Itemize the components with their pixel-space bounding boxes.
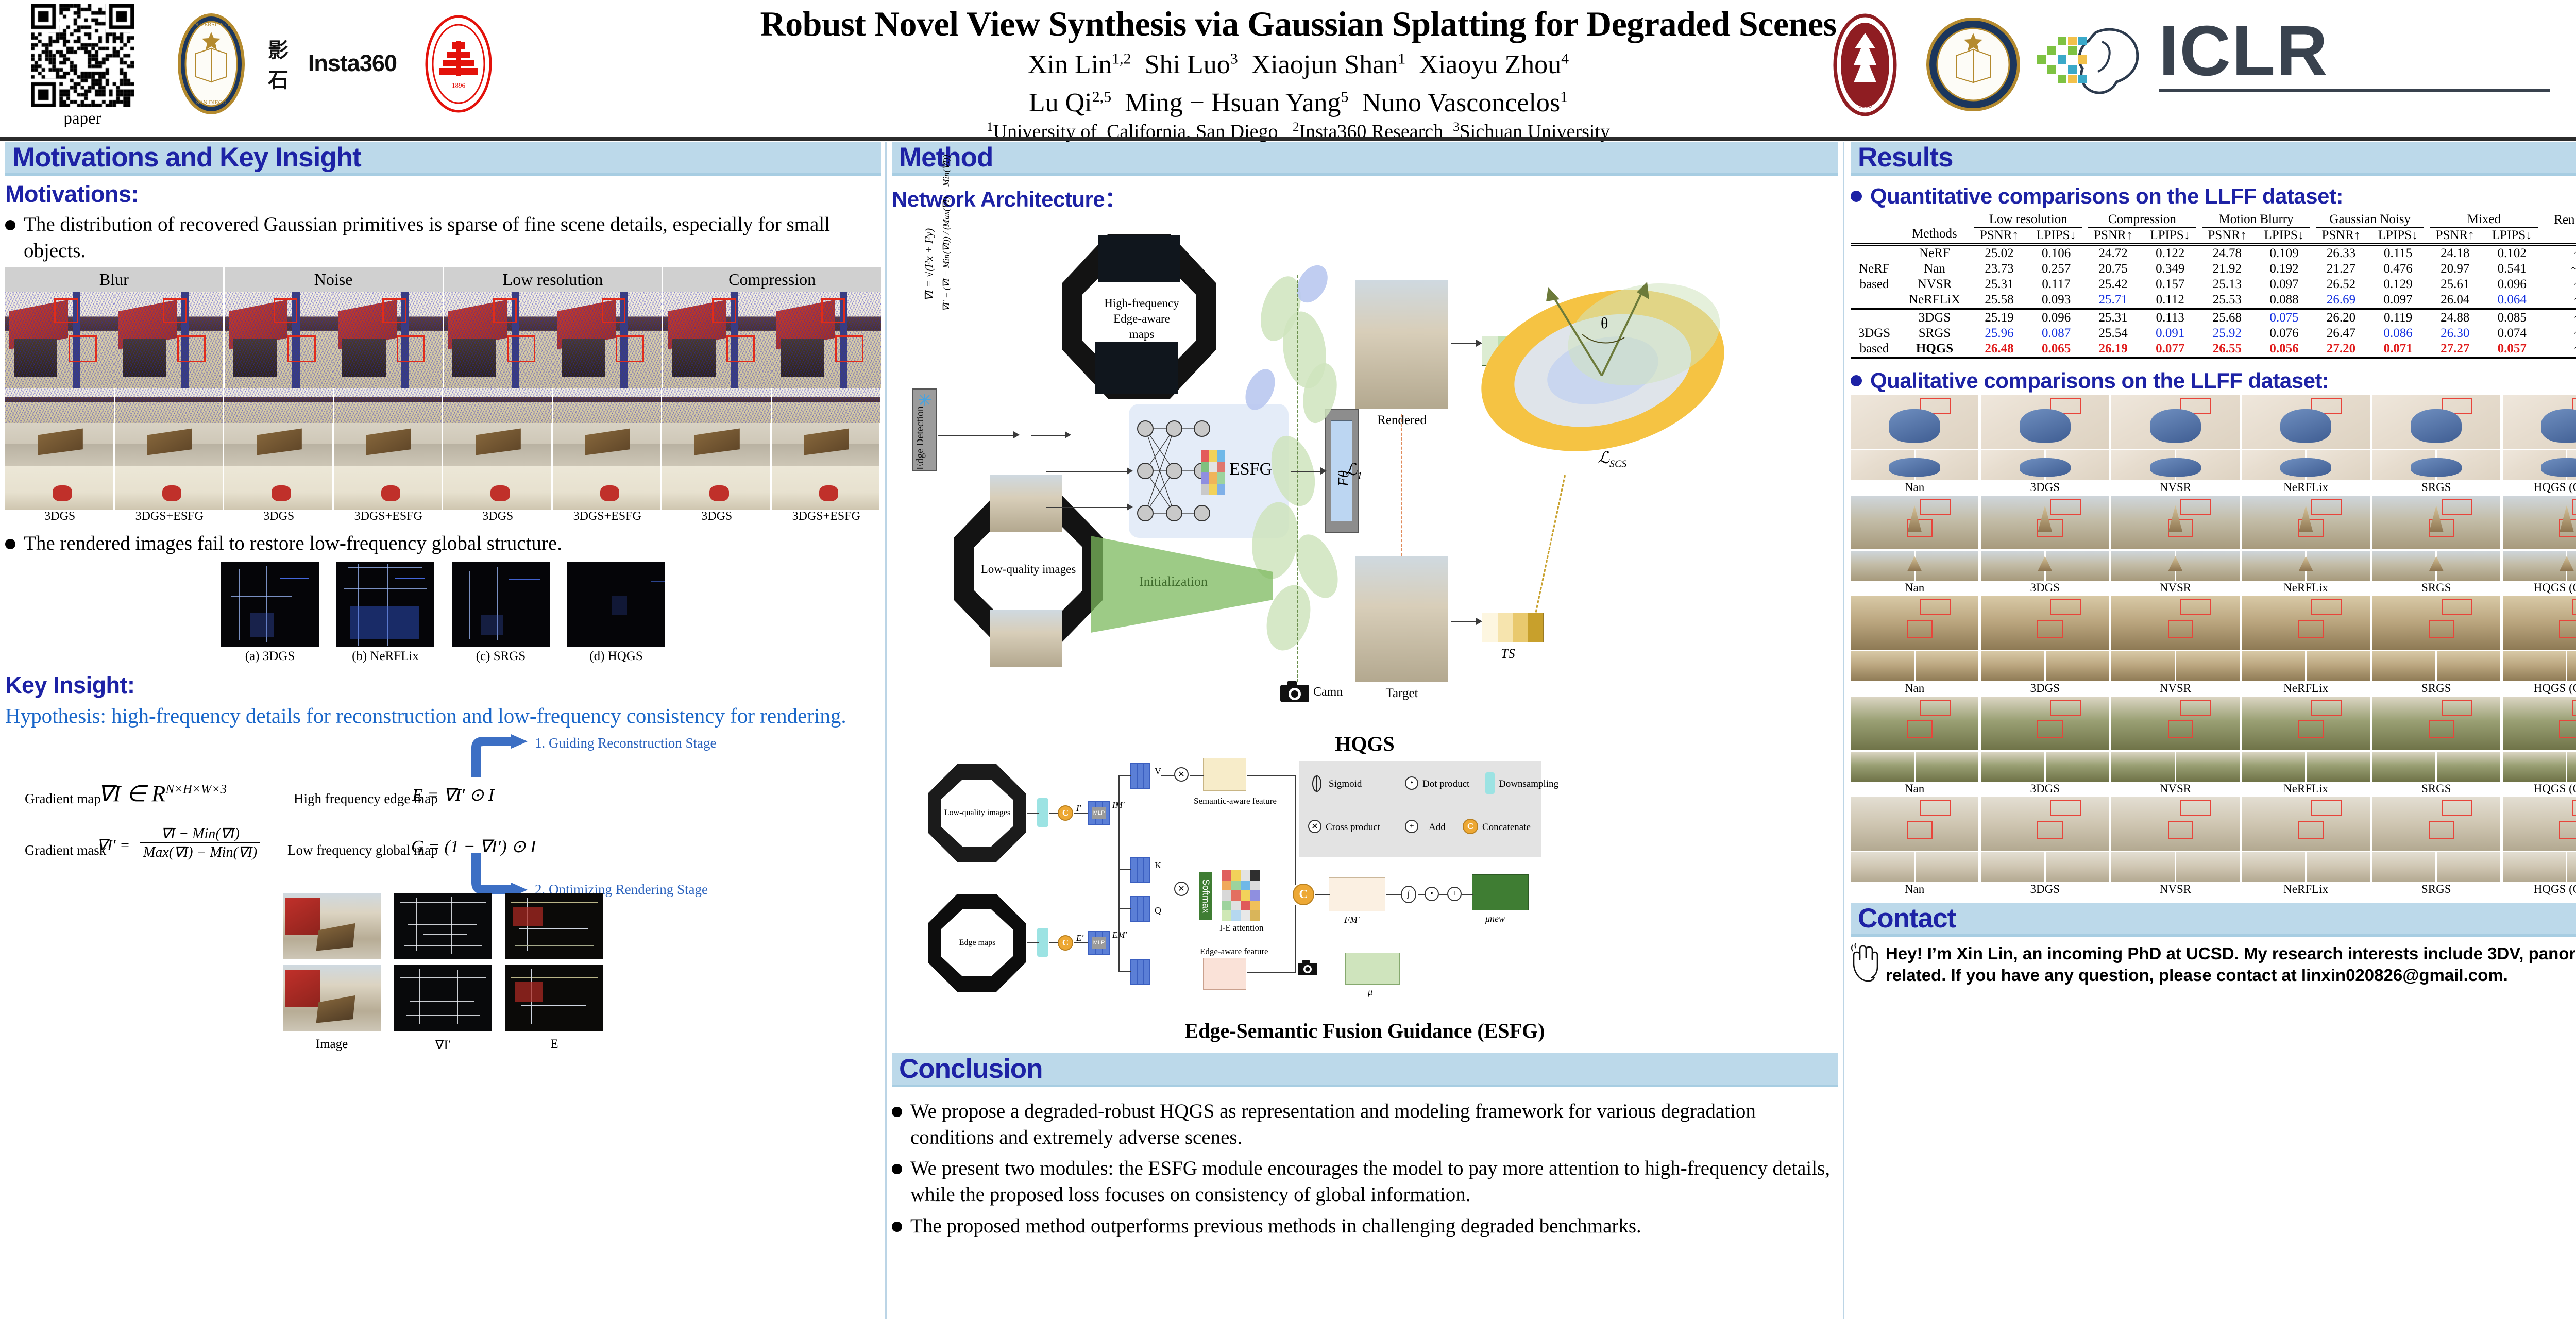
table-cell-value: 0.065 (2027, 341, 2085, 358)
network-architecture-diagram: ∇I = √(I²x + I²y) ∇I′ = (∇I − Min(∇I)) /… (892, 213, 1838, 739)
target-label: Target (1355, 686, 1448, 701)
low-quality-thumb-bottom (990, 610, 1062, 667)
concatenate-icon-1: C (1058, 805, 1073, 821)
mu-new-label: μnew (1485, 914, 1505, 924)
table-row: 3DGS25.190.09625.310.11325.680.07526.200… (1851, 309, 2576, 326)
cross-product-icon-2: ✕ (1174, 882, 1189, 896)
table-cell-value: 0.096 (2027, 309, 2085, 326)
qualitative-zoom-pair-trex-5 (2503, 651, 2576, 681)
dark-error-map-row (5, 562, 881, 647)
qualitative-caption-horns-3: NeRFLix (2242, 581, 2370, 596)
table-cell-value: 0.096 (2483, 277, 2541, 292)
caption-pair-6: 3DGS (662, 510, 772, 523)
section-title-contact: Contact (1858, 903, 1956, 934)
qr-code-block[interactable]: paper (21, 4, 144, 128)
results-table-body: NeRF25.020.10624.720.12224.780.10926.330… (1851, 245, 2576, 358)
table-cell-rentime: ~0.2 (2541, 341, 2576, 358)
degradation-header-blur: Blur (5, 267, 225, 292)
high-frequency-maps-label-l1: High-frequency (1098, 297, 1185, 310)
caption-pair-1: 3DGS+ESFG (115, 510, 225, 523)
legend-label-sigmoid: Sigmoid (1329, 779, 1362, 790)
table-cell-method: NVSR (1898, 277, 1971, 292)
bullet-dot-icon (892, 1164, 902, 1174)
qr-code-image[interactable] (31, 4, 134, 107)
table-cell-value: 0.057 (2483, 341, 2541, 358)
caption-pair-0: 3DGS (5, 510, 115, 523)
table-cell-value: 23.73 (1971, 261, 2027, 277)
qualitative-heading-text: Qualitative comparisons on the LLFF data… (1870, 368, 2329, 393)
qualitative-image-fortress-2 (2111, 797, 2239, 851)
fm-cube (1329, 877, 1385, 911)
table-cell-value: 25.42 (2085, 277, 2141, 292)
degradation-lantern-row (5, 466, 881, 510)
qualitative-image-trex-2 (2111, 596, 2239, 650)
qualitative-zoom-pair-fern-1 (1981, 752, 2109, 782)
qualitative-image-fern-0 (1851, 697, 1978, 750)
qualitative-zoom-pair-fern-5 (2503, 752, 2576, 782)
high-frequency-edge-map-equation: E = ∇I′ ⊙ I (412, 785, 494, 805)
legend-label-downsampling: Downsampling (1499, 779, 1558, 790)
contact-block: Hey! I’m Xin Lin, an incoming PhD at UCS… (1851, 943, 2576, 986)
table-cell-rentime: ~0.2 (2541, 326, 2576, 341)
gradient-map-label: Gradient map (25, 791, 101, 807)
sigmoid-legend-icon (1309, 775, 1325, 792)
camera-icon (1279, 680, 1310, 703)
table-cell-value: 25.71 (2085, 292, 2141, 309)
results-table-head: Low resolutionCompressionMotion BlurryGa… (1851, 212, 2576, 245)
qualitative-image-fern-1 (1981, 697, 2109, 750)
edge-example-grid: Image (5, 893, 881, 1053)
example-photo-2 (283, 965, 381, 1031)
insta360-logo: 影石 Insta360 (268, 45, 397, 81)
table-cell-method: NeRFLiX (1898, 292, 1971, 309)
poster-root: paper UNIVERSITY OF SAN DIEGO 影石 Insta36… (0, 0, 2576, 1319)
table-cell-value: 0.075 (2255, 309, 2313, 326)
qualitative-zoom-row-fortress (1851, 852, 2576, 882)
bullet-dot-icon (1851, 375, 1862, 386)
table-cell-value: 0.091 (2141, 326, 2199, 341)
qualitative-zoom-pair-trex-3 (2242, 651, 2370, 681)
table-cell-value: 26.55 (2199, 341, 2255, 358)
concat-legend-icon: C (1463, 819, 1478, 834)
qualitative-zoom-pair-shoe-4 (2372, 450, 2500, 480)
dot-legend-icon: • (1405, 776, 1418, 790)
table-row: NeRF25.020.10624.720.12224.780.10926.330… (1851, 245, 2576, 262)
k-label: K (1155, 860, 1161, 871)
qualitative-captions-trex: Nan3DGSNVSRNeRFLixSRGSHQGS (Ours) (1851, 681, 2576, 697)
table-header-methods: Methods (1898, 227, 1971, 245)
qualitative-zoom-pair-horns-4 (2372, 551, 2500, 581)
mu-label: μ (1368, 987, 1372, 997)
concatenate-icon-3: C (1293, 884, 1314, 905)
qualitative-caption-trex-5: HQGS (Ours) (2503, 681, 2576, 697)
table-cell-value: 25.54 (2085, 326, 2141, 341)
table-cell-value: 26.48 (1971, 341, 2027, 358)
edge-example-caption-gradmask: ∇I′ (394, 1037, 492, 1053)
qualitative-zoom-pair-fortress-5 (2503, 852, 2576, 882)
qualitative-image-fortress-1 (1981, 797, 2109, 851)
table-header-rentime: Ren time (s) (2541, 212, 2576, 228)
table-row: 3DGSSRGS25.960.08725.540.09125.920.07626… (1851, 326, 2576, 341)
table-cell-value: 0.097 (2369, 292, 2427, 309)
qualitative-zoom-pair-shoe-5 (2503, 450, 2576, 480)
table-cell-rentime: ~0.2 (2541, 309, 2576, 326)
table-cell-value: 0.349 (2141, 261, 2199, 277)
gradient-mask-denominator: Max(∇I) − Min(∇I) (140, 843, 260, 861)
ie-attention-tensor (1222, 870, 1260, 921)
degradation-method-captions: 3DGS 3DGS+ESFG 3DGS 3DGS+ESFG 3DGS 3DGS+… (5, 510, 881, 523)
esfg-diagram-title: Edge-Semantic Fusion Guidance (ESFG) (892, 1019, 1838, 1043)
qualitative-image-fortress-4 (2372, 797, 2500, 851)
qualitative-zoom-pair-trex-2 (2111, 651, 2239, 681)
qualitative-caption-fortress-1: 3DGS (1981, 882, 2109, 898)
edge-example-caption-E: E (505, 1037, 603, 1052)
table-cell-value: 24.88 (2427, 309, 2483, 326)
error-caption-a: (a) 3DGS (221, 649, 319, 664)
esfg-detail-diagram: Low-quality images Edge maps C C I′ E′ M… (892, 756, 1838, 1019)
qualitative-zoom-pair-fortress-3 (2242, 852, 2370, 882)
edge-example-column-gradmask: ∇I′ (394, 893, 492, 1053)
qualitative-caption-shoe-4: SRGS (2372, 480, 2500, 496)
table-cell-method: Nan (1898, 261, 1971, 277)
section-header-method: Method (892, 142, 1838, 176)
table-cell-value: 26.69 (2313, 292, 2369, 309)
qualitative-image-fern-4 (2372, 697, 2500, 750)
table-cell-value: 0.064 (2483, 292, 2541, 309)
section-header-results: Results (1851, 142, 2576, 176)
qualitative-zoom-row-fern (1851, 752, 2576, 782)
qualitative-image-trex-5 (2503, 596, 2576, 650)
table-cell-value: 27.27 (2427, 341, 2483, 358)
e-m-label: EM′ (1112, 930, 1127, 940)
qualitative-caption-fern-3: NeRFLix (2242, 782, 2370, 797)
i-prime-label: I′ (1076, 803, 1081, 814)
qualitative-comparison-grid: Nan3DGSNVSRNeRFLixSRGSHQGS (Ours)Nan3DGS… (1851, 395, 2576, 898)
table-cell-value: 0.115 (2369, 245, 2427, 262)
motivations-subheading: Motivations: (5, 181, 881, 208)
table-rowgroup-nerf: NeRF (1851, 261, 1898, 277)
qualitative-zoom-pair-shoe-2 (2111, 450, 2239, 480)
motivations-bullet-2-text: The rendered images fail to restore low-… (24, 531, 562, 557)
table-cell-value: 0.122 (2141, 245, 2199, 262)
gradient-mask-label: Gradient mask (25, 842, 106, 858)
legend-label-crossproduct: Cross product (1326, 822, 1380, 833)
degradation-cell-noise (225, 292, 444, 388)
qr-label: paper (21, 109, 144, 128)
table-cell-value: 0.157 (2141, 277, 2199, 292)
degradation-header-row: Blur Noise Low resolution Compression (5, 267, 881, 292)
downsample-legend-icon (1485, 772, 1495, 794)
qualitative-image-trex-1 (1981, 596, 2109, 650)
example-photo-1 (283, 893, 381, 959)
uc-merced-logo (1924, 15, 2022, 113)
degradation-cell-blur (5, 292, 225, 388)
table-cell-value: 0.113 (2141, 309, 2199, 326)
qualitative-zoom-row-horns (1851, 551, 2576, 581)
qualitative-zoom-pair-horns-5 (2503, 551, 2576, 581)
qualitative-zoom-pair-fortress-2 (2111, 852, 2239, 882)
conclusion-list: We propose a degraded-robust HQGS as rep… (892, 1098, 1838, 1239)
low-quality-images-label: Low-quality images (972, 563, 1085, 576)
table-cell-value: 0.071 (2369, 341, 2427, 358)
qualitative-row-shoe (1851, 395, 2576, 449)
qualitative-caption-horns-1: 3DGS (1981, 581, 2109, 596)
section-title-motivations: Motivations and Key Insight (12, 142, 361, 173)
qualitative-caption-horns-4: SRGS (2372, 581, 2500, 596)
section-header-motivations: Motivations and Key Insight (5, 142, 881, 176)
table-cell-value: 25.68 (2199, 309, 2255, 326)
ts-label: TS (1501, 646, 1515, 662)
diagram-grad-formula-2: ∇I′ = (∇I − Min(∇I)) / (Max(∇I) − Min(∇I… (941, 155, 952, 311)
key-insight-heading: Key Insight: (5, 672, 881, 699)
table-group-header-3: Gaussian Noisy (2313, 212, 2427, 227)
section-title-conclusion: Conclusion (899, 1053, 1043, 1085)
iclr-brain-logo (2035, 23, 2154, 100)
qualitative-row-trex (1851, 596, 2576, 650)
quantitative-heading-text: Quantitative comparisons on the LLFF dat… (1870, 184, 2343, 209)
qualitative-zoom-pair-trex-0 (1851, 651, 1978, 681)
q-label: Q (1155, 905, 1161, 916)
table-cell-value: 0.117 (2027, 277, 2085, 292)
table-group-header-1: Compression (2085, 212, 2199, 227)
qualitative-caption-shoe-0: Nan (1851, 480, 1978, 496)
qualitative-caption-fern-4: SRGS (2372, 782, 2500, 797)
table-row: basedHQGS26.480.06526.190.07726.550.0562… (1851, 341, 2576, 358)
qualitative-image-horns-2 (2111, 496, 2239, 549)
legend-label-dotproduct: Dot product (1422, 779, 1469, 790)
table-row: NeRFLiX25.580.09325.710.11225.530.08826.… (1851, 292, 2576, 309)
gradient-map-equation: ∇I ∈ RN×H×W×3 (98, 781, 227, 807)
qualitative-row-fern (1851, 697, 2576, 750)
svg-text:1898: 1898 (1858, 102, 1872, 109)
qualitative-caption-fortress-3: NeRFLix (2242, 882, 2370, 898)
mlp-block-k (1130, 857, 1150, 883)
qualitative-zoom-pair-fortress-4 (2372, 852, 2500, 882)
edge-example-column-E: E (505, 893, 603, 1053)
qualitative-caption-fern-0: Nan (1851, 782, 1978, 797)
table-cell-method: HQGS (1898, 341, 1971, 358)
gradient-mask-lhs: ∇I′ = (97, 836, 130, 854)
qualitative-zoom-pair-fern-0 (1851, 752, 1978, 782)
table-cell-value: 25.53 (2199, 292, 2255, 309)
error-map-srgs (452, 562, 550, 647)
error-caption-c: (c) SRGS (452, 649, 550, 664)
qualitative-captions-horns: Nan3DGSNVSRNeRFLixSRGSHQGS (Ours) (1851, 581, 2576, 596)
loss-scs-label: ℒSCS (1598, 448, 1626, 470)
semantic-aware-cube (1203, 758, 1246, 791)
iclr-wordmark: ICLR (2159, 15, 2576, 87)
table-cell-value: 0.109 (2255, 245, 2313, 262)
qualitative-image-horns-1 (1981, 496, 2109, 549)
feature-tensor-icon (1201, 450, 1225, 495)
qualitative-zoom-pair-horns-3 (2242, 551, 2370, 581)
bullet-dot-icon (892, 1222, 902, 1232)
table-cell-method: SRGS (1898, 326, 1971, 341)
degradation-comparison-grid: Blur Noise Low resolution Compression (5, 267, 881, 523)
poster-columns: Motivations and Key Insight Motivations:… (0, 142, 2576, 1319)
mlp-block-v (1130, 763, 1150, 789)
section-title-results: Results (1858, 142, 1953, 173)
add-icon: + (1447, 887, 1462, 901)
table-cell-value: 26.30 (2427, 326, 2483, 341)
caption-pair-3: 3DGS+ESFG (334, 510, 444, 523)
camera-label: Camn (1313, 685, 1343, 699)
svg-text:UNIVERSITY OF: UNIVERSITY OF (190, 22, 232, 28)
table-cell-value: 26.47 (2313, 326, 2369, 341)
conclusion-item-2: We present two modules: the ESFG module … (892, 1156, 1838, 1208)
qualitative-zoom-pair-trex-1 (1981, 651, 2109, 681)
table-cell-value: 0.086 (2369, 326, 2427, 341)
qualitative-image-fortress-5 (2503, 797, 2576, 851)
qualitative-caption-fern-5: HQGS (Ours) (2503, 782, 2576, 797)
qualitative-caption-trex-3: NeRFLix (2242, 681, 2370, 697)
qualitative-image-horns-5 (2503, 496, 2576, 549)
esfg-label: ESFG (1229, 460, 1272, 479)
insta360-wordmark: Insta360 (308, 50, 397, 77)
table-cell-value: 26.33 (2313, 245, 2369, 262)
qualitative-image-shoe-3 (2242, 395, 2370, 449)
diagram-grad-formula-1: ∇I = √(I²x + I²y) (923, 228, 936, 301)
table-cell-value: 0.102 (2483, 245, 2541, 262)
stage1-arrow-icon (464, 733, 531, 780)
qualitative-caption-horns-2: NVSR (2111, 581, 2239, 596)
qualitative-caption-horns-5: HQGS (Ours) (2503, 581, 2576, 596)
table-subheader-3-1: LPIPS↓ (2369, 228, 2427, 245)
qualitative-image-trex-3 (2242, 596, 2370, 650)
table-cell-value: 24.78 (2199, 245, 2255, 262)
table-cell-value: 0.097 (2255, 277, 2313, 292)
high-frequency-maps-label-l3: maps (1098, 328, 1185, 341)
svg-text:SAN DIEGO: SAN DIEGO (196, 99, 227, 106)
bullet-dot-icon (5, 539, 15, 549)
qualitative-caption-trex-0: Nan (1851, 681, 1978, 697)
table-cell-value: 0.257 (2027, 261, 2085, 277)
degradation-image-row (5, 292, 881, 388)
qualitative-zoom-pair-shoe-0 (1851, 450, 1978, 480)
edge-map-thumb-bottom (1095, 342, 1178, 394)
qualitative-caption-fortress-0: Nan (1851, 882, 1978, 898)
qualitative-zoom-pair-fern-3 (2242, 752, 2370, 782)
table-cell-value: 26.52 (2313, 277, 2369, 292)
qualitative-image-horns-4 (2372, 496, 2500, 549)
esfg-edgemaps-label: Edge maps (939, 938, 1015, 948)
qualitative-zoom-row-shoe (1851, 450, 2576, 480)
table-rowgroup-nerf2: based (1851, 277, 1898, 292)
qualitative-caption-fern-1: 3DGS (1981, 782, 2109, 797)
degradation-header-noise: Noise (225, 267, 444, 292)
qualitative-heading: Qualitative comparisons on the LLFF data… (1851, 368, 2576, 393)
mlp-tag-2: MLP (1092, 937, 1106, 949)
qualitative-image-trex-4 (2372, 596, 2500, 650)
softmax-box: Softmax (1199, 872, 1212, 920)
qualitative-zoom-pair-fern-2 (2111, 752, 2239, 782)
qualitative-caption-shoe-5: HQGS (Ours) (2503, 480, 2576, 496)
qualitative-image-fortress-3 (2242, 797, 2370, 851)
qualitative-caption-trex-2: NVSR (2111, 681, 2239, 697)
table-group-header-2: Motion Blurry (2199, 212, 2313, 227)
cross-legend-icon: ✕ (1308, 820, 1321, 833)
peking-university-logo: 1898 (1814, 12, 1917, 118)
qualitative-caption-fern-2: NVSR (2111, 782, 2239, 797)
table-subheader-4-0: PSNR↑ (2427, 228, 2483, 245)
table-cell-value: 0.476 (2369, 261, 2427, 277)
qualitative-caption-shoe-2: NVSR (2111, 480, 2239, 496)
conclusion-item-2-text: We present two modules: the ESFG module … (910, 1156, 1838, 1208)
qualitative-image-horns-3 (2242, 496, 2370, 549)
conclusion-item-1: We propose a degraded-robust HQGS as rep… (892, 1098, 1838, 1151)
mlp-block-q (1130, 896, 1150, 922)
high-frequency-maps-label-l2: Edge-aware (1098, 312, 1185, 326)
example-E-1 (505, 893, 603, 959)
low-quality-thumb-top (990, 475, 1062, 532)
qualitative-caption-fortress-5: HQGS (Ours) (2503, 882, 2576, 898)
loss-l1-label: ℒ1 (1345, 460, 1362, 482)
esfg-lowquality-label: Low-quality images (939, 808, 1015, 818)
qualitative-caption-shoe-1: 3DGS (1981, 480, 2109, 496)
qualitative-row-horns (1851, 496, 2576, 549)
error-map-3dgs (221, 562, 319, 647)
qualitative-image-shoe-1 (1981, 395, 2109, 449)
table-cell-method: 3DGS (1898, 309, 1971, 326)
results-table: Low resolutionCompressionMotion BlurryGa… (1851, 212, 2576, 359)
qualitative-zoom-row-trex (1851, 651, 2576, 681)
rendered-image (1355, 280, 1448, 409)
table-cell-value: 26.19 (2085, 341, 2141, 358)
degradation-cell-compression (663, 292, 881, 388)
table-cell-value: 0.087 (2027, 326, 2085, 341)
poster-header: paper UNIVERSITY OF SAN DIEGO 影石 Insta36… (0, 0, 2576, 138)
table-cell-value: 0.106 (2027, 245, 2085, 262)
table-row: basedNVSR25.310.11725.420.15725.130.0972… (1851, 277, 2576, 292)
qualitative-captions-fern: Nan3DGSNVSRNeRFLixSRGSHQGS (Ours) (1851, 782, 2576, 797)
mlp-tag-1: MLP (1092, 807, 1106, 819)
target-image (1355, 556, 1448, 682)
qualitative-image-fern-5 (2503, 697, 2576, 750)
motivations-bullet-1: The distribution of recovered Gaussian p… (5, 212, 881, 264)
qualitative-caption-shoe-3: NeRFLix (2242, 480, 2370, 496)
qualitative-zoom-pair-horns-2 (2111, 551, 2239, 581)
concatenate-icon-2: C (1058, 935, 1073, 951)
error-caption-d: (d) HQGS (567, 649, 665, 664)
table-cell-value: 0.074 (2483, 326, 2541, 341)
e-prime-label: E′ (1076, 933, 1083, 943)
table-rowgroup-3dgs: 3DGS (1851, 326, 1898, 341)
table-cell-value: 25.19 (1971, 309, 2027, 326)
table-subheader-4-1: LPIPS↓ (2483, 228, 2541, 245)
sigmoid-icon: ∫ (1401, 886, 1416, 903)
table-cell-value: 25.58 (1971, 292, 2027, 309)
bullet-dot-icon (5, 220, 15, 230)
column-results: Results Quantitative comparisons on the … (1844, 142, 2576, 1319)
gradient-mask-numerator: ∇I − Min(∇I) (140, 825, 260, 843)
key-insight-hypothesis: Hypothesis: high-frequency details for r… (5, 702, 881, 730)
stage2-arrow-icon (464, 853, 531, 899)
legend-label-concatenate: Concatenate (1482, 822, 1531, 833)
table-cell-value: 21.92 (2199, 261, 2255, 277)
table-cell-value: 25.61 (2427, 277, 2483, 292)
ucsd-logo: UNIVERSITY OF SAN DIEGO (160, 12, 263, 115)
bullet-dot-icon (892, 1107, 902, 1117)
quantitative-heading: Quantitative comparisons on the LLFF dat… (1851, 184, 2576, 209)
table-subheader-3-0: PSNR↑ (2313, 228, 2369, 245)
error-map-nerflix (336, 562, 434, 647)
qualitative-image-fern-3 (2242, 697, 2370, 750)
qualitative-captions-fortress: Nan3DGSNVSRNeRFLixSRGSHQGS (Ours) (1851, 882, 2576, 898)
table-cell-value: 25.92 (2199, 326, 2255, 341)
qualitative-image-shoe-5 (2503, 395, 2576, 449)
gaussian-axis-dashed (1297, 275, 1298, 682)
qualitative-caption-fortress-4: SRGS (2372, 882, 2500, 898)
